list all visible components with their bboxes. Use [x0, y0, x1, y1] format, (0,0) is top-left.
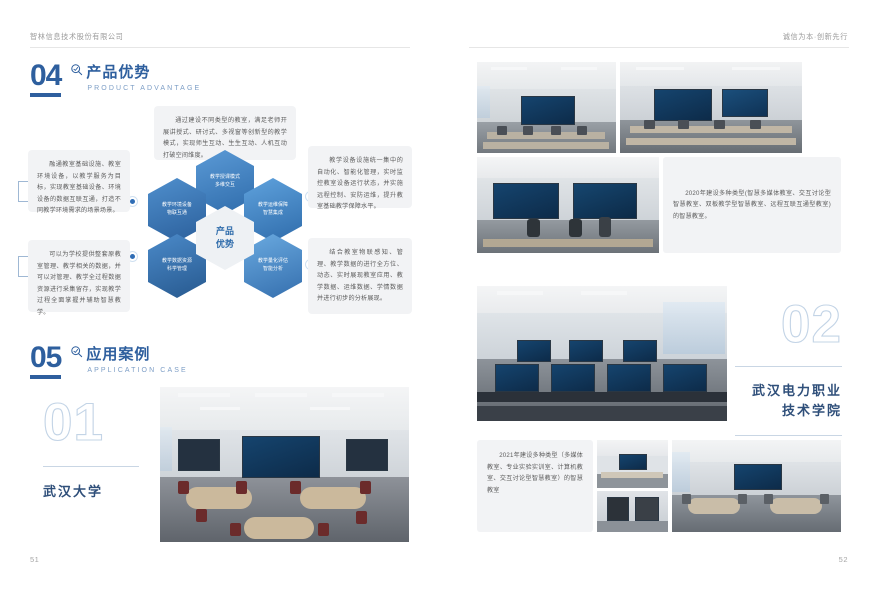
header-rule-left — [30, 47, 410, 48]
hexagon-cluster: 教学授课模式 多维交互 教学环境设备 物联互通 教学运维保障 智慧集成 — [140, 150, 310, 316]
photo-discussion-room — [672, 440, 841, 532]
hexagon-center-line1: 产品 — [216, 225, 234, 238]
case-02-block: 02 武汉电力职业 技术学院 — [735, 300, 842, 436]
page-right: 诚信为本·创新先行 — [439, 0, 878, 600]
photo-classroom-round-tables — [160, 387, 409, 542]
advantage-note-left-lower: 可以为学校提供整套原教室管理、教学相关的数据，并可以对管理、教学全过程数据资源进… — [28, 240, 130, 312]
page-number-right: 52 — [839, 555, 848, 564]
hexagon-bottom-left-line1: 教学数据资源 — [162, 258, 192, 266]
case-01-divider — [43, 466, 139, 467]
connector-dot-left-upper — [130, 199, 135, 204]
hexagon-top-right-line1: 教学运维保障 — [258, 202, 288, 210]
section-number-underline-05 — [30, 375, 61, 379]
case-01-block: 01 武汉大学 — [43, 398, 139, 500]
photo-seminar-room-dual-screen — [620, 62, 802, 153]
section-title-cn-text-04: 产品优势 — [86, 61, 150, 82]
header-slogan: 诚信为本·创新先行 — [783, 32, 848, 42]
section-number-04: 04 — [30, 62, 61, 90]
section-number-05: 05 — [30, 344, 61, 372]
hexagon-bottom-right-line1: 教学量化评估 — [258, 258, 288, 266]
photo-equipment-rack — [597, 491, 668, 532]
photo-lecture-room-front — [477, 62, 616, 153]
section-title-en-04: PRODUCT ADVANTAGE — [87, 85, 201, 92]
caption-case-02-2021: 2021年建设多种类型（多媒体教室、专业实验实训室、计算机教室、交互讨论型智慧教… — [477, 440, 593, 532]
section-title-block-04: 产品优势 PRODUCT ADVANTAGE — [70, 61, 201, 92]
section-number-underline — [30, 93, 61, 97]
section-title-cn-04: 产品优势 — [70, 61, 201, 82]
section-heading-05: 05 应用案例 APPLICATION CASE — [30, 344, 188, 374]
section-heading-04: 04 产品优势 PRODUCT ADVANTAGE — [30, 62, 201, 92]
case-01-number: 01 — [43, 398, 139, 448]
header-company-name: 智林信息技术股份有限公司 — [30, 32, 123, 42]
case-02-number: 02 — [735, 300, 842, 350]
header-rule-right — [469, 47, 849, 48]
hexagon-top-right-line2: 智慧集成 — [258, 210, 288, 218]
magnifier-icon — [70, 63, 83, 80]
hexagon-bottom-right-line2: 智能分析 — [258, 266, 288, 274]
hexagon-bottom-left-line2: 科学管理 — [162, 266, 192, 274]
advantage-note-right-upper: 教学设备设施统一集中的自动化、智能化管理，实时监控教室设备运行状态，并实施远程控… — [308, 146, 412, 208]
section-title-cn-text-05: 应用案例 — [86, 343, 150, 364]
advantage-note-left-upper: 融通教室基础设施、教室环境设备，以教学服务为目标，实现教室基础设备、环境设备的数… — [28, 150, 130, 212]
hexagon-top-line1: 教学授课模式 — [210, 174, 240, 182]
product-advantage-diagram: 通过建设不同类型的教室，满足老师开展讲授式、研讨式、多视窗等创新型的教学模式，实… — [18, 98, 418, 333]
connector-left-lower-v — [18, 256, 19, 276]
photo-computer-lab — [477, 286, 727, 421]
connector-left-upper-v — [18, 181, 19, 201]
advantage-note-right-lower: 结合教室物联感知、管理、教学数据的进行全方位、动态、实时展现教室应用、教学数据、… — [308, 238, 412, 314]
page-left: 智林信息技术股份有限公司 04 产品优势 PRODUCT ADVANTAGE — [0, 0, 439, 600]
section-title-cn-05: 应用案例 — [70, 343, 187, 364]
page-number-left: 51 — [30, 555, 39, 564]
section-title-block-05: 应用案例 APPLICATION CASE — [70, 343, 187, 374]
hexagon-top-line2: 多维交互 — [210, 182, 240, 190]
hexagon-center-line2: 优势 — [216, 238, 234, 251]
hexagon-top-left-line1: 教学环境设备 — [162, 202, 192, 210]
case-02-name-line1: 武汉电力职业 — [735, 381, 842, 401]
brochure-spread: 智林信息技术股份有限公司 04 产品优势 PRODUCT ADVANTAGE — [0, 0, 878, 600]
section-title-en-05: APPLICATION CASE — [87, 367, 187, 374]
hexagon-top-left-line2: 物联互通 — [162, 210, 192, 218]
case-02-divider-top — [735, 366, 842, 367]
case-02-divider-bottom — [735, 435, 842, 436]
connector-dot-left-lower — [130, 254, 135, 259]
photo-lab-bench — [597, 440, 668, 488]
case-01-name: 武汉大学 — [43, 481, 139, 500]
photo-smart-classroom-students — [477, 157, 659, 253]
magnifier-icon — [70, 345, 83, 362]
case-02-name-line2: 技术学院 — [735, 401, 842, 421]
caption-case-02-2020: 2020年建设多种类型(智慧多媒体教室、交互讨论型智慧教室、双板教学型智慧教室、… — [663, 157, 841, 253]
